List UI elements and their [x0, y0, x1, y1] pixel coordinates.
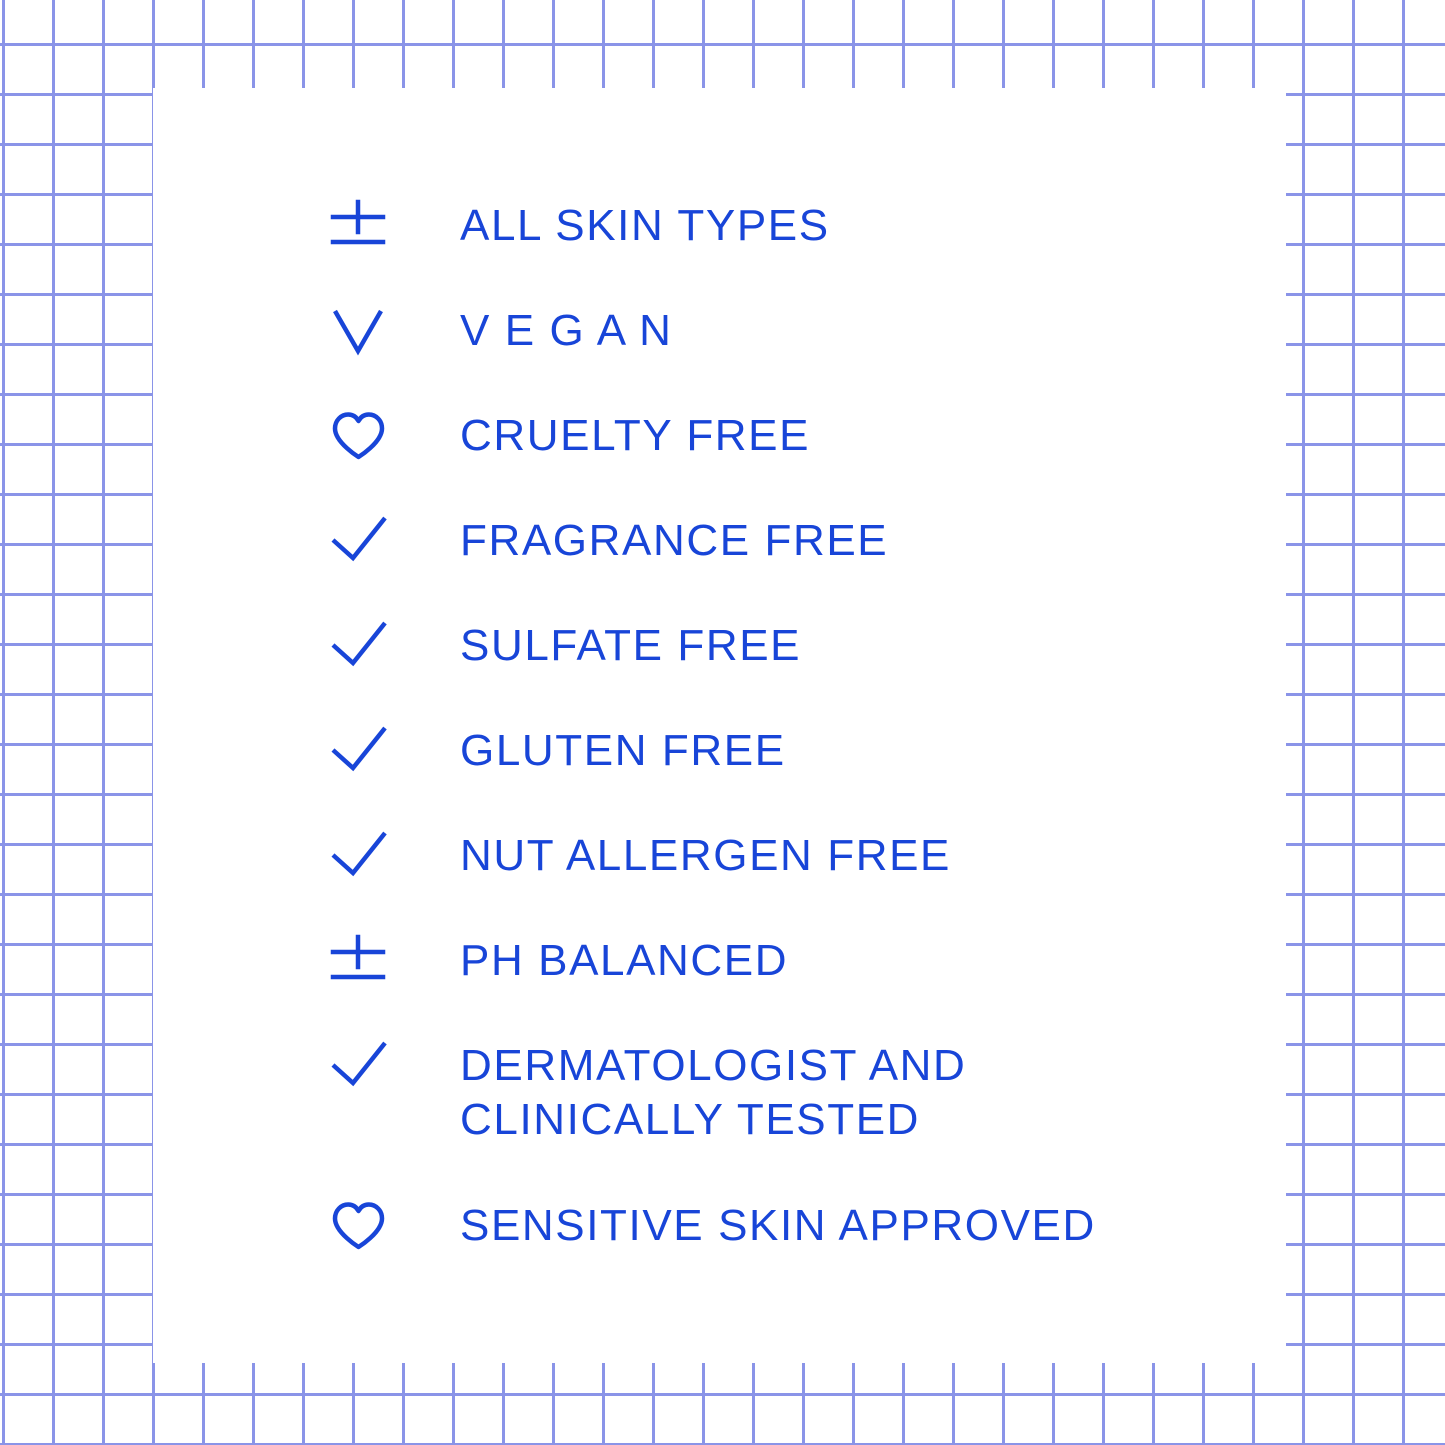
claim-row: FRAGRANCE FREE — [330, 513, 1230, 569]
v-shape-icon — [330, 303, 390, 359]
claim-label: SENSITIVE SKIN APPROVED — [460, 1198, 1096, 1253]
claim-row: V E G A N — [330, 303, 1230, 359]
claims-card-panel: ALL SKIN TYPESV E G A NCRUELTY FREEFRAGR… — [153, 88, 1286, 1363]
plus-minus-icon — [330, 933, 390, 989]
checkmark-icon — [330, 1038, 390, 1094]
claim-label: SULFATE FREE — [460, 618, 801, 673]
heart-icon — [330, 408, 390, 464]
checkmark-icon — [330, 723, 390, 779]
claim-row: ALL SKIN TYPES — [330, 198, 1230, 254]
claim-label: V E G A N — [460, 303, 673, 358]
claim-row: DERMATOLOGIST AND CLINICALLY TESTED — [330, 1038, 1230, 1147]
claim-label: CRUELTY FREE — [460, 408, 810, 463]
claim-row: PH BALANCED — [330, 933, 1230, 989]
claim-label: GLUTEN FREE — [460, 723, 786, 778]
checkmark-icon — [330, 618, 390, 674]
claim-label: FRAGRANCE FREE — [460, 513, 888, 568]
claim-row: SULFATE FREE — [330, 618, 1230, 674]
claim-label: NUT ALLERGEN FREE — [460, 828, 951, 883]
claims-list: ALL SKIN TYPESV E G A NCRUELTY FREEFRAGR… — [153, 88, 1286, 1363]
plus-minus-icon — [330, 198, 390, 254]
claim-row: NUT ALLERGEN FREE — [330, 828, 1230, 884]
heart-icon — [330, 1198, 390, 1254]
product-claims-graphic: ALL SKIN TYPESV E G A NCRUELTY FREEFRAGR… — [0, 0, 1445, 1445]
claim-row: SENSITIVE SKIN APPROVED — [330, 1198, 1230, 1254]
claim-label: PH BALANCED — [460, 933, 788, 988]
claim-label: ALL SKIN TYPES — [460, 198, 830, 253]
checkmark-icon — [330, 513, 390, 569]
claim-label: DERMATOLOGIST AND CLINICALLY TESTED — [460, 1038, 966, 1147]
claim-row: CRUELTY FREE — [330, 408, 1230, 464]
checkmark-icon — [330, 828, 390, 884]
claim-row: GLUTEN FREE — [330, 723, 1230, 779]
